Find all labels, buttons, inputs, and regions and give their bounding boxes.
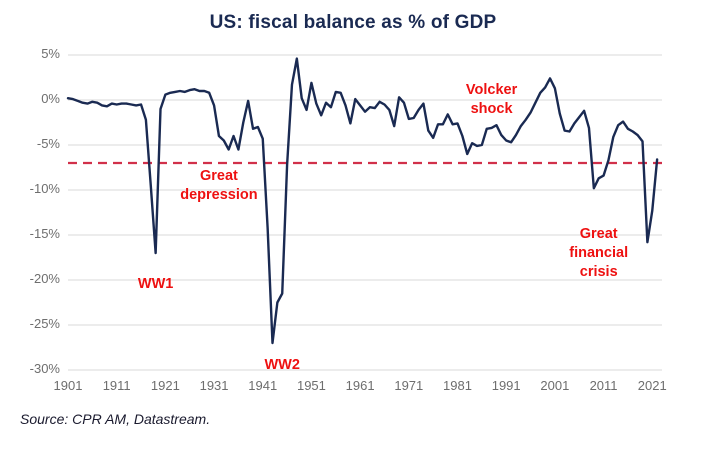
annotation-ww1: WW1 xyxy=(96,275,216,294)
y-axis-tick-label: -30% xyxy=(8,361,60,376)
fiscal-balance-line xyxy=(68,59,657,343)
annotation-volcker-shock: Volcker shock xyxy=(432,81,552,119)
annotation-ww2: WW2 xyxy=(222,356,342,375)
y-axis-tick-label: -15% xyxy=(8,226,60,241)
annotation-great-financial-crisis: Great financial crisis xyxy=(539,225,659,282)
chart-container: US: fiscal balance as % of GDP 5%0%-5%-1… xyxy=(0,0,706,454)
y-axis-tick-label: 0% xyxy=(8,91,60,106)
source-note: Source: CPR AM, Datastream. xyxy=(20,411,210,427)
y-axis-tick-label: -5% xyxy=(8,136,60,151)
annotation-great-depression: Great depression xyxy=(159,167,279,205)
y-axis-tick-label: 5% xyxy=(8,46,60,61)
y-axis-tick-label: -20% xyxy=(8,271,60,286)
y-axis-tick-label: -10% xyxy=(8,181,60,196)
y-axis-tick-label: -25% xyxy=(8,316,60,331)
x-axis-tick-label: 2021 xyxy=(622,378,682,393)
